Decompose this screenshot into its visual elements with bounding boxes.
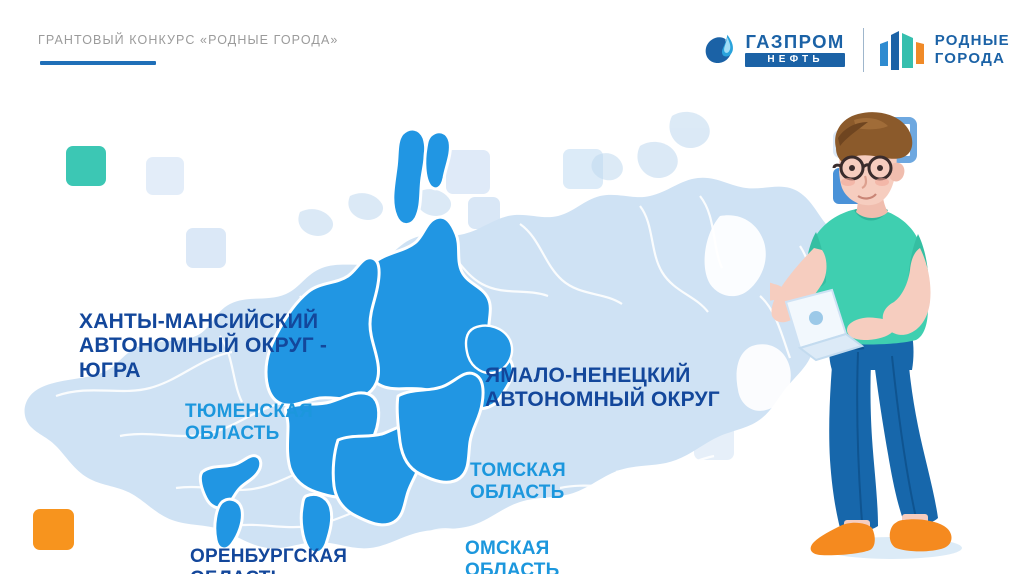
character-svg bbox=[770, 108, 1024, 574]
character-shoe-right bbox=[890, 519, 952, 551]
region-yamal-spur-2 bbox=[425, 132, 451, 189]
map-label-orenburg: ОРЕНБУРГСКАЯ ОБЛАСТЬ bbox=[190, 546, 347, 574]
map-label-tomsk: ТОМСКАЯ ОБЛАСТЬ bbox=[470, 460, 566, 504]
region-tyumen-tail bbox=[301, 494, 331, 552]
map-label-yanao: ЯМАЛО-НЕНЕЦКИЙ АВТОНОМНЫЙ ОКРУГ bbox=[485, 364, 720, 413]
gazprom-neft-label: НЕФТЬ bbox=[767, 55, 823, 65]
gazprom-neft-logo[interactable]: ГАЗПРОМ НЕФТЬ bbox=[704, 32, 844, 68]
map-label-omsk: ОМСКАЯ ОБЛАСТЬ bbox=[465, 538, 559, 574]
character-eye-right bbox=[877, 165, 883, 171]
character-leg-right bbox=[872, 344, 938, 524]
gazprom-label: ГАЗПРОМ bbox=[745, 33, 844, 52]
rodnye-goroda-logo[interactable]: РОДНЫЕ ГОРОДА bbox=[880, 30, 1010, 70]
gazprom-wordmark: ГАЗПРОМ НЕФТЬ bbox=[745, 33, 844, 68]
map-label-tyumen: ТЮМЕНСКАЯ ОБЛАСТЬ bbox=[185, 401, 313, 445]
page-title: ГРАНТОВЫЙ КОНКУРС «РОДНЫЕ ГОРОДА» bbox=[38, 33, 338, 47]
character-illustration bbox=[770, 108, 1024, 574]
map-label-hmao: ХАНТЫ-МАНСИЙСКИЙ АВТОНОМНЫЙ ОКРУГ - ЮГРА bbox=[79, 310, 327, 383]
character-leg-left bbox=[829, 344, 878, 531]
gazprom-neft-bar: НЕФТЬ bbox=[745, 53, 844, 67]
rodnye-goroda-wordmark: РОДНЫЕ ГОРОДА bbox=[935, 33, 1010, 68]
slide-canvas: ХАНТЫ-МАНСИЙСКИЙ АВТОНОМНЫЙ ОКРУГ - ЮГРА… bbox=[0, 0, 1024, 574]
region-orenburg-east-tail bbox=[215, 499, 243, 549]
gazprom-flame-g-icon bbox=[704, 32, 740, 68]
character-blush-left bbox=[841, 178, 855, 186]
rodnye-goroda-line1: РОДНЫЕ bbox=[935, 33, 1010, 50]
character-shoe-left bbox=[811, 523, 875, 555]
logo-divider bbox=[863, 28, 864, 72]
character-blush-right bbox=[875, 178, 889, 186]
region-yamal-peninsula bbox=[393, 129, 426, 225]
slide-header: ГРАНТОВЫЙ КОНКУРС «РОДНЫЕ ГОРОДА» ГАЗПРО… bbox=[0, 0, 1024, 96]
rodnye-goroda-buildings-icon bbox=[880, 30, 926, 70]
character-eye-left bbox=[849, 165, 855, 171]
laptop-logo-dot bbox=[809, 311, 823, 325]
title-underline-rule bbox=[40, 61, 156, 65]
logo-group: ГАЗПРОМ НЕФТЬ РО bbox=[704, 24, 1010, 76]
rodnye-goroda-line2: ГОРОДА bbox=[935, 51, 1010, 68]
